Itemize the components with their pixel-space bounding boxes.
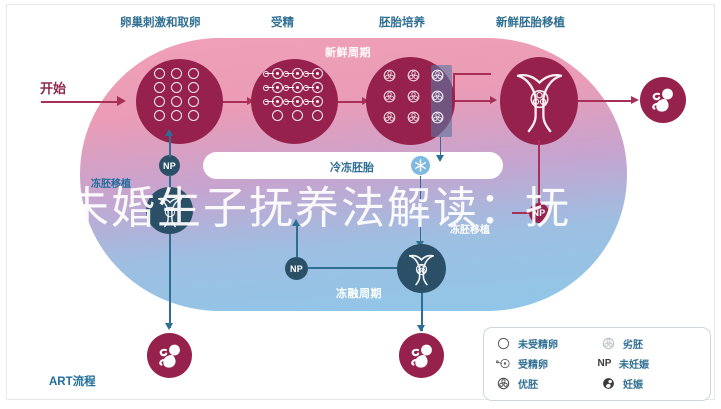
legend-label: 妊娠: [623, 376, 643, 391]
fresh-cycle-label: 新鲜周期: [325, 44, 371, 60]
stage-caption-embryo-culture: 胚胎培养: [379, 14, 425, 30]
good-embryo-icon: [407, 69, 420, 82]
connector-fet-left-to-baby-arrow: [165, 323, 173, 330]
start-label: 开始: [40, 78, 66, 97]
legend-item-fertilized-egg: 受精卵: [496, 356, 548, 371]
legend-label: 优胚: [518, 376, 538, 391]
connector-fert-to-culture: [338, 101, 364, 103]
fetus-icon-left: [155, 341, 185, 371]
unfertilized-egg-icon: [171, 96, 182, 107]
connector-fet-left-to-baby: [169, 234, 171, 328]
poor-embryo-icon: [601, 336, 616, 351]
unfertilized-egg-icon: [154, 110, 165, 121]
stage-caption-fresh-transfer: 新鲜胚胎移植: [496, 14, 565, 30]
connector-culture-to-transfer: [453, 100, 493, 102]
connector-stim-to-fert: [223, 101, 249, 103]
fetus-icon: [648, 85, 678, 115]
unfertilized-egg-icon: [188, 68, 199, 79]
art-flow-title: ART流程: [49, 373, 96, 389]
screenshot-root: 卵巢刺激和取卵 受精 胚胎培养 新鲜胚胎移植 新鲜周期 冻融周期 开始: [0, 0, 721, 409]
unfertilized-egg-icon: [188, 82, 199, 93]
fertilized-egg-icon: [496, 356, 511, 371]
legend-item-good-embryo: 优胚: [496, 376, 538, 391]
thaw-cycle-label: 冻融周期: [336, 285, 382, 301]
unfertilized-egg-icon: [171, 82, 182, 93]
legend-item-poor-embryo: 劣胚: [601, 336, 643, 351]
fertilized-egg-grid: [272, 68, 323, 121]
pregnancy-icon: [601, 376, 616, 391]
embryo-grid: [383, 69, 444, 124]
unfertilized-egg-icon: [154, 68, 165, 79]
frozen-embryo-label: 冷冻胚胎: [330, 159, 374, 175]
unfertilized-egg-icon: [312, 110, 323, 121]
good-embryo-icon: [431, 90, 444, 103]
watermark-text: 未婚生子抚养法解读：抚: [65, 187, 665, 231]
good-embryo-icon: [407, 90, 420, 103]
good-embryo-icon: [383, 69, 396, 82]
connector-culture-to-transfer-top: [454, 73, 491, 75]
connector-thaw-to-baby-arrow: [417, 325, 425, 332]
fertilized-egg-icon: [292, 82, 303, 93]
np-badge-thaw[interactable]: NP: [285, 257, 308, 280]
np-icon: NP: [597, 356, 612, 371]
good-embryo-icon: [496, 376, 511, 391]
good-embryo-icon: [431, 69, 444, 82]
fertilized-egg-icon: [312, 96, 323, 107]
unfertilized-egg-icon: [188, 96, 199, 107]
np-badge-left[interactable]: NP: [159, 155, 180, 176]
connector-thaw-np-line: [307, 267, 401, 269]
connector-fet-left-up: [169, 133, 171, 157]
unfertilized-egg-icon: [188, 110, 199, 121]
unfertilized-egg-icon: [154, 82, 165, 93]
legend-item-not-pregnant: NP 未妊娠: [597, 356, 649, 371]
legend-label: 未妊娠: [619, 356, 649, 371]
fetus-icon-thaw: [407, 341, 437, 371]
unfertilized-egg-icon: [496, 336, 511, 351]
unfertilized-egg-icon: [171, 68, 182, 79]
fertilized-egg-icon: [272, 82, 283, 93]
stage-caption-fertilization: 受精: [271, 14, 294, 30]
good-embryo-icon: [407, 111, 420, 124]
uterus-icon: [512, 67, 567, 135]
connector-transfer-to-baby-arrow: [631, 96, 639, 104]
legend-label: 受精卵: [518, 356, 548, 371]
fertilized-egg-icon: [292, 96, 303, 107]
fertilized-egg-icon: [292, 68, 303, 79]
legend-item-pregnancy: 妊娠: [601, 376, 643, 391]
good-embryo-icon: [383, 90, 396, 103]
connector-culture-to-transfer-arrow: [490, 96, 497, 104]
connector-culture-to-freeze-arrow: [436, 155, 444, 162]
connector-transfer-to-baby: [578, 100, 633, 102]
fertilized-egg-icon: [312, 68, 323, 79]
snowflake-icon: [411, 156, 430, 175]
unfertilized-egg-icon: [292, 110, 303, 121]
connector-fet-left-up-arrow: [165, 129, 173, 136]
unfertilized-egg-grid: [154, 68, 199, 121]
unfertilized-egg-icon: [171, 110, 182, 121]
legend-label: 未受精卵: [518, 336, 558, 351]
legend-panel: 未受精卵 受精卵 优胚 劣胚 NP 未妊娠: [483, 327, 711, 401]
diagram-card: 卵巢刺激和取卵 受精 胚胎培养 新鲜胚胎移植 新鲜周期 冻融周期 开始: [6, 4, 715, 400]
fertilized-egg-icon: [312, 82, 323, 93]
legend-item-unfertilized-egg: 未受精卵: [496, 336, 558, 351]
start-arrow-head: [117, 96, 126, 106]
fertilized-egg-icon: [272, 96, 283, 107]
unfertilized-egg-icon: [154, 96, 165, 107]
uterus-icon-thaw: [406, 251, 437, 286]
good-embryo-icon: [431, 111, 444, 124]
fertilized-egg-icon: [272, 68, 283, 79]
good-embryo-icon: [383, 111, 396, 124]
start-arrow-line: [41, 101, 119, 103]
unfertilized-egg-icon: [272, 110, 283, 121]
stage-caption-ovarian-stimulation: 卵巢刺激和取卵: [120, 14, 201, 30]
legend-label: 劣胚: [623, 336, 643, 351]
